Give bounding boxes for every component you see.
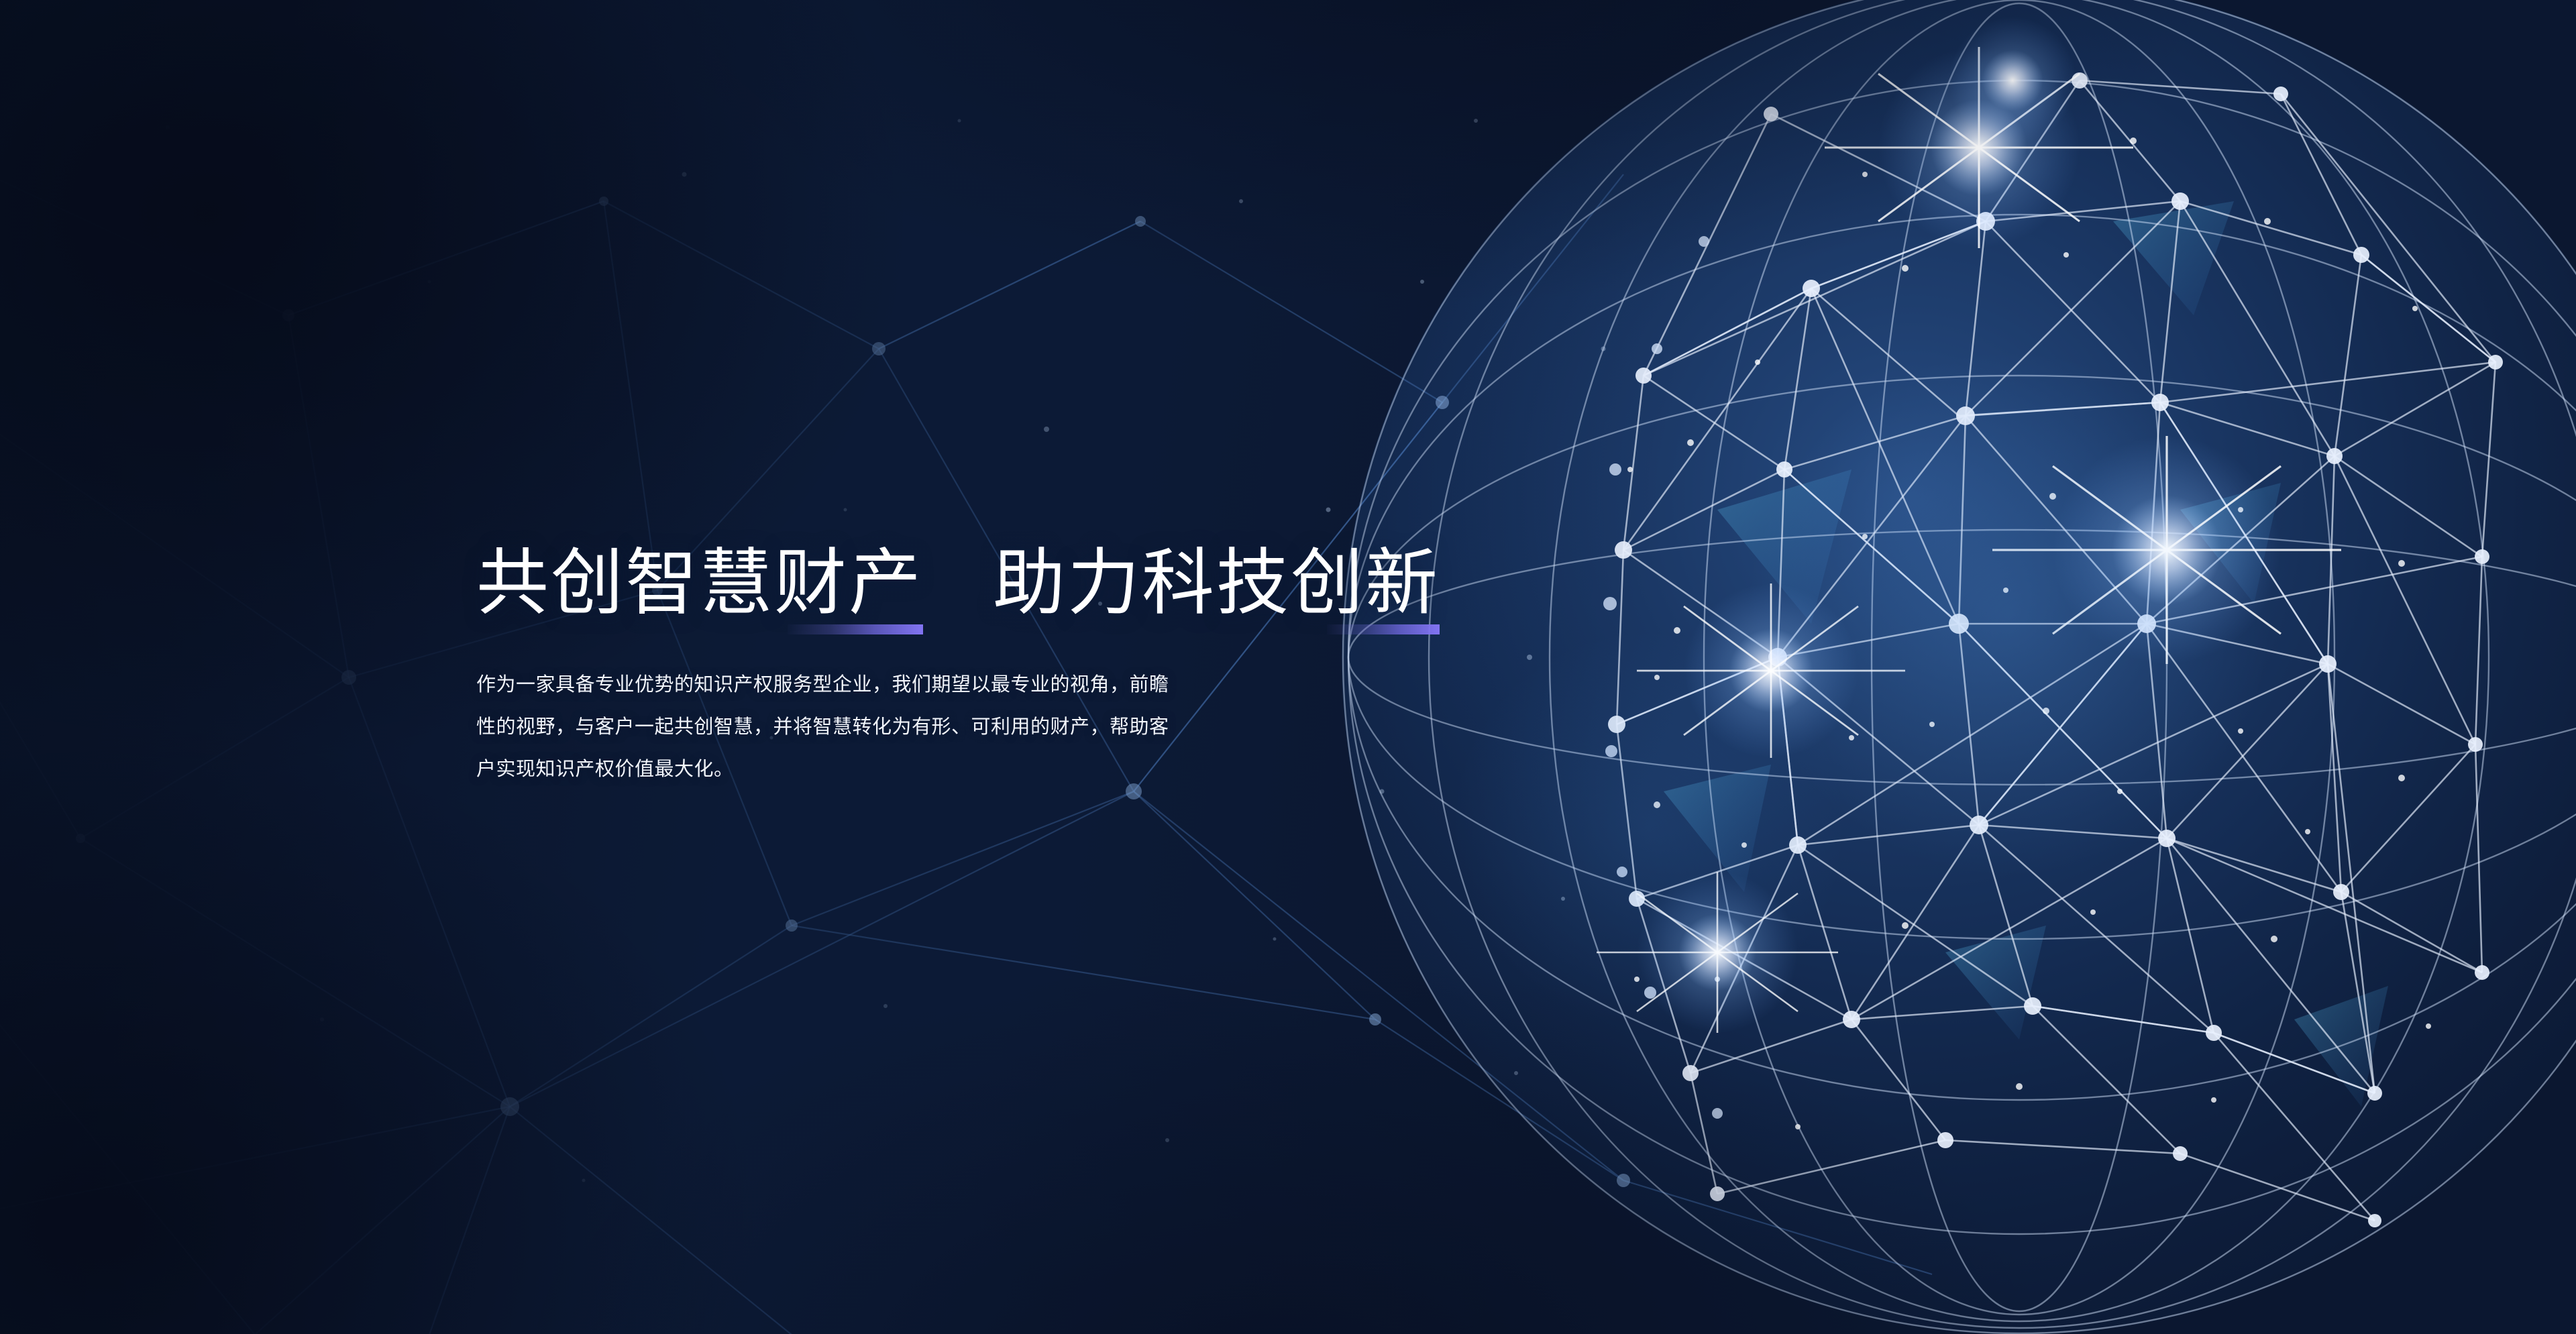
headline-part-1: 共创智慧财产 bbox=[476, 545, 923, 621]
description-line: 户实现知识产权价值最大化。 bbox=[476, 748, 1424, 791]
description-line: 性的视野，与客户一起共创智慧，并将智慧转化为有形、可利用的财产，帮助客 bbox=[476, 706, 1424, 748]
banner-hero: 共创智慧财产 助力科技创新 作为一家具备专业优势的知识产权服务型企业，我们期望以… bbox=[0, 0, 2576, 1334]
headline-part-1-group: 共创智慧财产 bbox=[476, 545, 923, 621]
page-title: 共创智慧财产 助力科技创新 bbox=[476, 545, 1429, 621]
hero-content: 共创智慧财产 助力科技创新 作为一家具备专业优势的知识产权服务型企业，我们期望以… bbox=[476, 545, 1429, 791]
headline-part-2-group: 助力科技创新 bbox=[993, 545, 1440, 621]
headline-part-2: 助力科技创新 bbox=[993, 545, 1440, 621]
hero-description: 作为一家具备专业优势的知识产权服务型企业，我们期望以最专业的视角，前瞻 性的视野… bbox=[476, 664, 1424, 791]
accent-bar-1 bbox=[788, 624, 923, 634]
description-line: 作为一家具备专业优势的知识产权服务型企业，我们期望以最专业的视角，前瞻 bbox=[476, 664, 1424, 706]
title-body-spacer bbox=[476, 621, 1429, 664]
accent-bar-2 bbox=[1327, 624, 1440, 634]
